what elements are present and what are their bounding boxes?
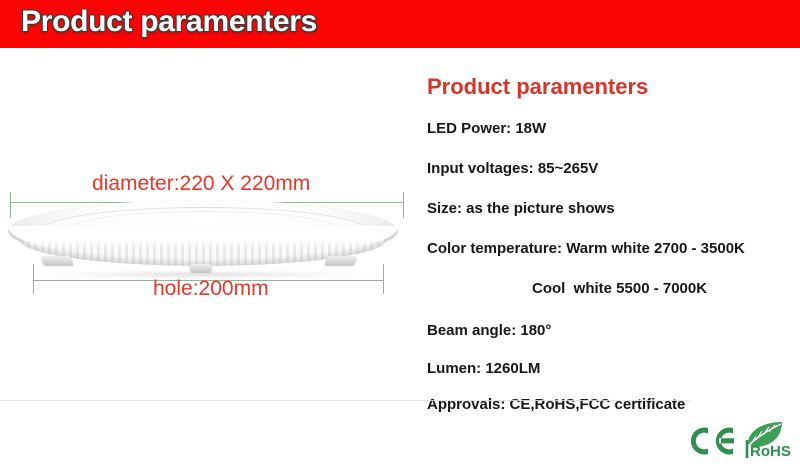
product-parameters-page: Product paramenters diameter:220 X 220mm… [0,0,800,466]
spec-lumen: Lumen: 1260LM [427,360,540,377]
spec-approvals: Approvals: CE,RoHS,FCC certificate [427,396,685,413]
page-banner: Product paramenters [0,0,800,48]
led-panel-light-image [8,200,398,284]
certification-logos: RoHS [686,420,794,462]
spec-beam-angle: Beam angle: 180° [427,322,551,339]
product-figure-panel: diameter:220 X 220mm hole:200mm [0,48,410,466]
diameter-tick-right [403,192,404,218]
spec-color-temperature-cool: Cool white 5500 - 7000K [532,280,707,297]
banner-title: Product paramenters [21,5,317,39]
hole-tick-right [383,264,384,294]
ce-mark-icon [686,422,736,460]
mounting-clip-right [325,256,358,265]
hole-dimension-label: hole:200mm [153,277,269,301]
spec-input-voltages: Input voltages: 85~265V [427,160,598,177]
mounting-clip-left [41,256,74,265]
rohs-mark-icon: RoHS [738,420,794,460]
specifications-panel: Product paramenters LED Power: 18W Input… [412,48,800,466]
rohs-label: RoHS [750,443,791,460]
background-seam-line [0,400,690,401]
spec-size: Size: as the picture shows [427,200,615,217]
specifications-title: Product paramenters [427,74,648,100]
spec-color-temperature-warm: Color temperature: Warm white 2700 - 350… [427,240,745,257]
hole-tick-left [33,264,34,294]
diameter-dimension-label: diameter:220 X 220mm [92,172,310,196]
spec-led-power: LED Power: 18W [427,120,546,137]
